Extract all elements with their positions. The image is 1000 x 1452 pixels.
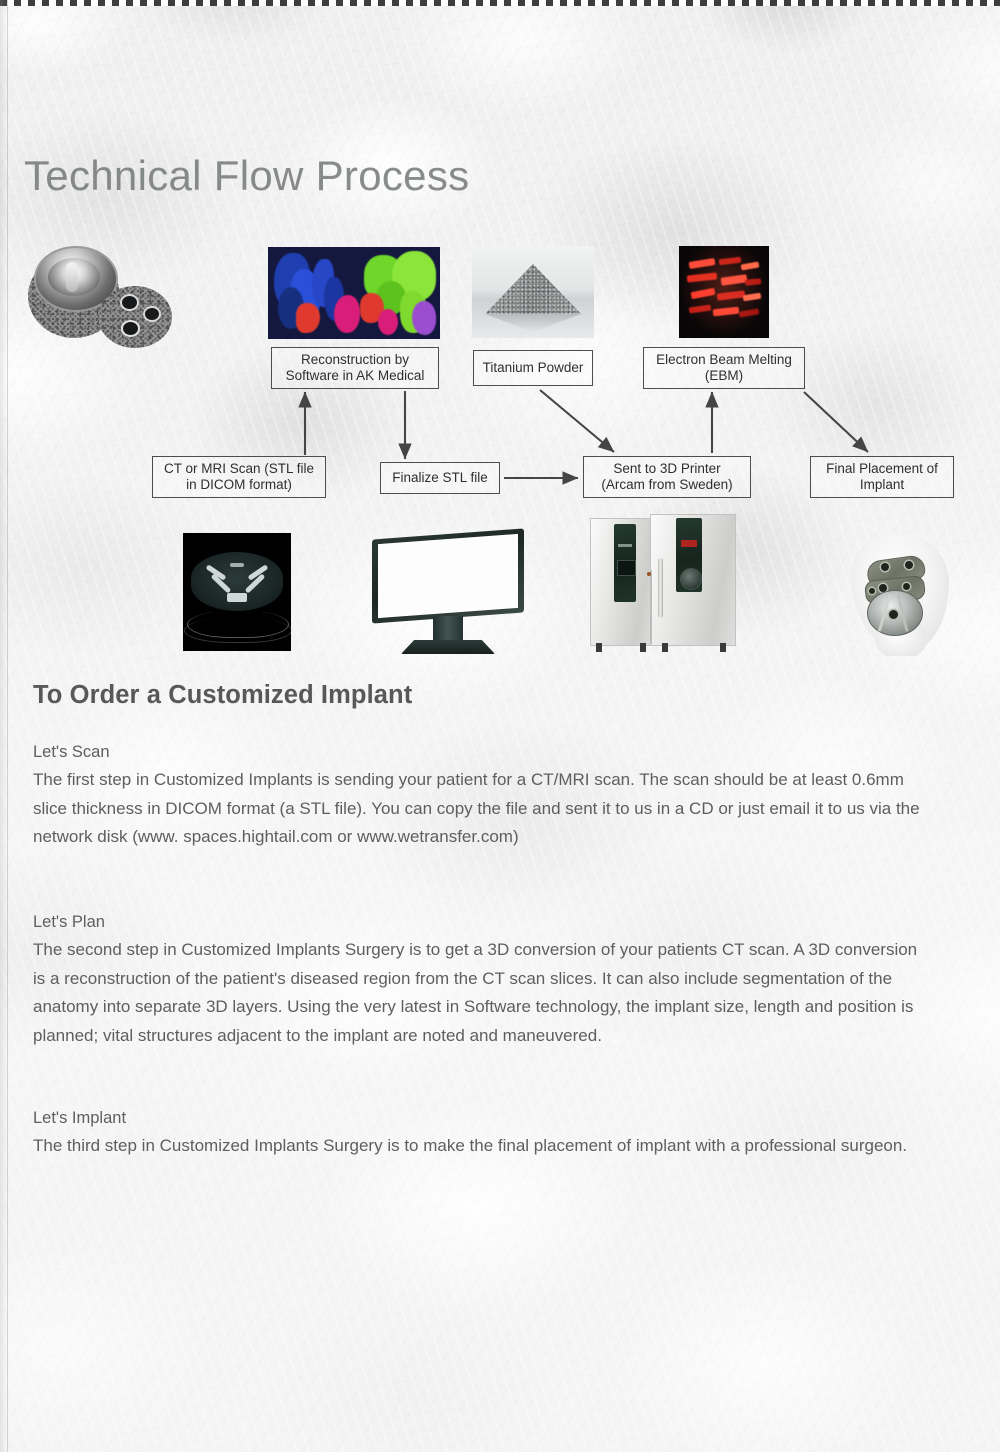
- page-left-edge-line: [7, 0, 8, 1452]
- reconstruction-render-image: [268, 247, 440, 339]
- page-title: Technical Flow Process: [24, 152, 469, 200]
- page-left-shadow: [0, 0, 7, 1452]
- background-white-veil: [0, 0, 1000, 1452]
- flow-box-reconstruction[interactable]: Reconstruction by Software in AK Medical: [271, 347, 439, 389]
- ct-slice-image: [183, 533, 291, 651]
- document-page: Technical Flow Process: [0, 0, 1000, 1452]
- flow-box-titanium-powder[interactable]: Titanium Powder: [473, 350, 593, 386]
- section-lets-plan: Let's Plan The second step in Customized…: [33, 908, 926, 1050]
- arcam-printer-image: [588, 512, 736, 656]
- flow-box-electron-beam-melting[interactable]: Electron Beam Melting (EBM): [643, 347, 805, 389]
- flow-box-finalize-stl[interactable]: Finalize STL file: [380, 462, 500, 494]
- section-lets-implant: Let's Implant The third step in Customiz…: [33, 1104, 926, 1161]
- implant-products-image: [22, 240, 180, 348]
- section-label-scan: Let's Scan: [33, 738, 926, 766]
- final-implant-image: [845, 528, 955, 656]
- section-body-implant: The third step in Customized Implants Su…: [33, 1132, 926, 1161]
- flow-box-sent-to-printer[interactable]: Sent to 3D Printer (Arcam from Sweden): [583, 456, 751, 498]
- section-body-scan: The first step in Customized Implants is…: [33, 766, 926, 852]
- computer-monitor-image: [368, 528, 528, 656]
- section-lets-scan: Let's Scan The first step in Customized …: [33, 738, 926, 852]
- ebm-melting-image: [679, 246, 769, 338]
- flow-box-final-placement[interactable]: Final Placement of Implant: [810, 456, 954, 498]
- flow-box-ct-mri-scan[interactable]: CT or MRI Scan (STL file in DICOM format…: [152, 456, 326, 498]
- section-body-plan: The second step in Customized Implants S…: [33, 936, 926, 1050]
- section-label-implant: Let's Implant: [33, 1104, 926, 1132]
- titanium-powder-image: [472, 246, 594, 338]
- section-label-plan: Let's Plan: [33, 908, 926, 936]
- scan-perforation-strip: [0, 0, 1000, 6]
- page-section-heading: To Order a Customized Implant: [33, 681, 412, 710]
